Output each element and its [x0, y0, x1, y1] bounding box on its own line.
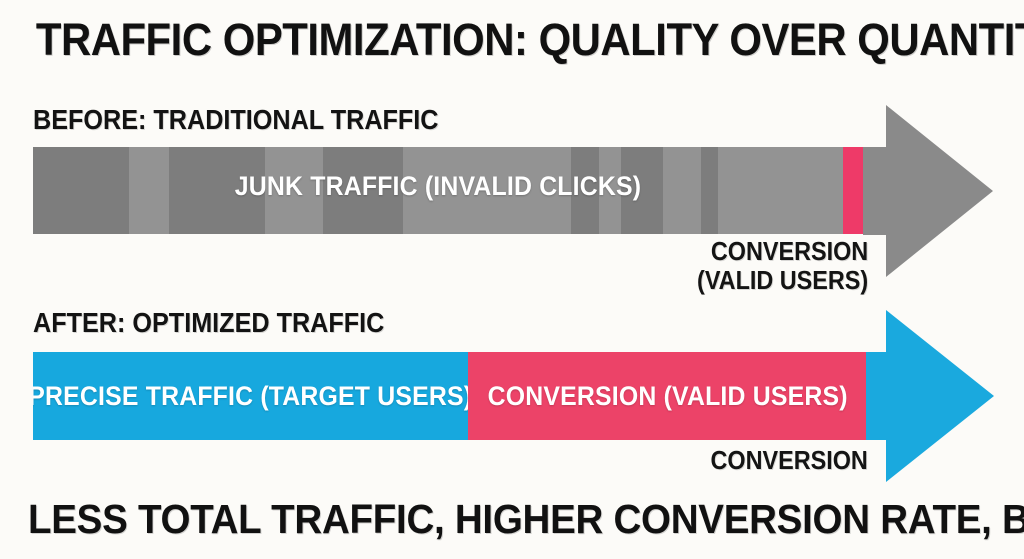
after-caption-line-1: CONVERSION — [711, 446, 868, 475]
before-arrow-head-icon — [863, 100, 995, 282]
gray-bar-stripe — [33, 147, 129, 234]
page-title: TRAFFIC OPTIMIZATION: QUALITY OVER QUANT… — [36, 14, 988, 66]
after-precise-traffic-label: PRECISE TRAFFIC (TARGET USERS) — [33, 352, 468, 440]
gray-bar-stripe — [621, 147, 663, 234]
before-caption-line-1: CONVERSION — [697, 237, 868, 266]
infographic-canvas: TRAFFIC OPTIMIZATION: QUALITY OVER QUANT… — [0, 0, 1024, 559]
gray-bar-stripe — [323, 147, 403, 234]
before-caption-line-2: (VALID USERS) — [697, 266, 868, 295]
gray-bar-stripe — [701, 147, 718, 234]
after-conversion-segment: CONVERSION (VALID USERS) — [468, 352, 867, 440]
section-label-before: BEFORE: TRADITIONAL TRAFFIC — [33, 105, 439, 135]
gray-bar-stripe — [663, 147, 701, 234]
gray-bar-stripe — [129, 147, 169, 234]
section-label-after: AFTER: OPTIMIZED TRAFFIC — [33, 308, 384, 338]
before-traffic-bar — [33, 147, 843, 234]
gray-bar-stripe — [599, 147, 621, 234]
after-conversion-caption: CONVERSION — [711, 446, 868, 475]
gray-bar-stripe — [718, 147, 843, 234]
after-conversion-label: CONVERSION (VALID USERS) — [468, 352, 867, 440]
gray-bar-stripe — [403, 147, 571, 234]
gray-bar-stripe — [169, 147, 265, 234]
gray-bar-stripe — [265, 147, 323, 234]
before-conversion-segment — [843, 147, 863, 234]
after-arrow-head-icon — [866, 305, 998, 487]
after-precise-traffic-segment: PRECISE TRAFFIC (TARGET USERS) — [33, 352, 468, 440]
before-conversion-caption: CONVERSION (VALID USERS) — [697, 237, 868, 295]
footer-summary: LESS TOTAL TRAFFIC, HIGHER CONVERSION RA… — [28, 495, 977, 543]
gray-bar-stripe — [571, 147, 599, 234]
